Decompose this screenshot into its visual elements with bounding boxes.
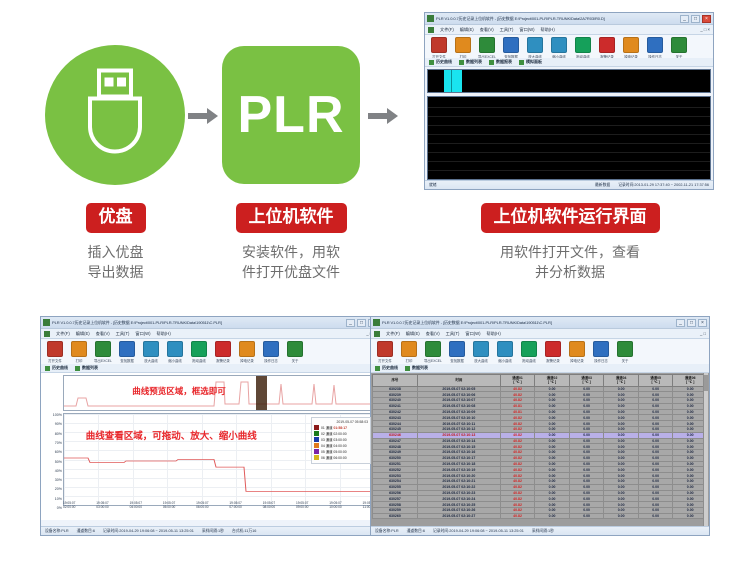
toolbar-label-10: 关于 xyxy=(614,358,636,363)
chart-area[interactable]: 历史曲线 数据列表 数据报表 模拟面板 xyxy=(425,58,713,180)
caption-desc-1: 插入优盘 导出数据 xyxy=(38,242,193,283)
status-bar: 就绪 最新数据 记录时间:2013-01-29 17:37:40 ~ 2002-… xyxy=(425,180,713,189)
caption-badge-3: 上位机软件运行界面 xyxy=(481,203,660,233)
annotation-preview: 曲线预览区域，框选即可 xyxy=(132,385,226,397)
curve-workspace[interactable]: 曲线预览区域，框选即可 100%90%80%70%60%50%40%30%20%… xyxy=(41,373,379,520)
status-channels: 通道数目:6 xyxy=(77,529,95,534)
legend-swatch xyxy=(314,431,319,436)
cell-timestamp: 2019-05-07 02:10:27 xyxy=(417,513,500,519)
toolbar-icon-5 xyxy=(497,341,513,357)
caption-step-3: 上位机软件运行界面 用软件打开文件，查看 并分析数据 xyxy=(420,203,720,282)
menu-tools[interactable]: 工具(T) xyxy=(500,27,514,33)
curve-main-pane[interactable]: 曲线查看区域，可拖动、放大、缩小曲线 2019-05-07 05:58:0301… xyxy=(63,413,375,506)
status-channels: 通道数目:6 xyxy=(407,529,425,534)
status-interval: 采样间隔:1秒 xyxy=(532,529,554,534)
toolbar-label-6: 拖动曲线 xyxy=(188,358,210,363)
toolbar-label-6: 拖动曲线 xyxy=(518,358,540,363)
toolbar-label-10: 关于 xyxy=(284,358,306,363)
x-tick-label: 19:05:07 08:00:00 xyxy=(263,501,275,509)
toolbar-button-7[interactable]: 报警记录 xyxy=(596,37,618,59)
toolbar-icon-4 xyxy=(473,341,489,357)
toolbar-button-3[interactable]: 查找数据 xyxy=(500,37,522,59)
tab-history-curve[interactable]: 历史曲线 xyxy=(45,365,68,371)
menu-view[interactable]: 查看(V) xyxy=(426,331,440,337)
selection-highlight[interactable] xyxy=(444,70,462,92)
app-icon xyxy=(427,15,434,22)
toolbar-button-6[interactable]: 拖动曲线 xyxy=(518,341,540,363)
y-tick-label: 30% xyxy=(55,478,62,482)
toolbar-icon-10 xyxy=(671,37,687,53)
caption-badge-2: 上位机软件 xyxy=(236,203,347,233)
mdi-controls[interactable]: _ □ xyxy=(700,331,706,336)
y-axis: 100%90%80%70%60%50%40%30%20%10%0% xyxy=(43,413,63,506)
y-tick-label: 100% xyxy=(53,413,62,417)
arrow-1-icon xyxy=(188,108,218,124)
menu-bar[interactable]: 文件(F) 编辑(E) 查看(V) 工具(T) 窗口(W) 帮助(H) _ □ … xyxy=(41,329,379,339)
document-icon xyxy=(374,331,380,337)
caption-desc-3: 用软件打开文件，查看 并分析数据 xyxy=(420,242,720,283)
x-tick-label: 19:05:07 10:00:00 xyxy=(329,501,341,509)
toolbar-icon-8 xyxy=(239,341,255,357)
toolbar-button-10[interactable]: 关于 xyxy=(284,341,306,363)
toolbar-button-7[interactable]: 报警记录 xyxy=(542,341,564,363)
status-record-time: 记录时间:2013-01-29 17:37:40 ~ 2002-11-21 17… xyxy=(618,183,709,188)
toolbar-icon-3 xyxy=(503,37,519,53)
status-interval: 采样间隔:1秒 xyxy=(202,529,224,534)
tab-data-list[interactable]: 数据列表 xyxy=(459,59,482,65)
toolbar-icon-1 xyxy=(455,37,471,53)
x-tick-label: 19:05:07 03:00:00 xyxy=(96,501,108,509)
y-tick-label: 40% xyxy=(55,469,62,473)
toolbar-button-8[interactable]: 掉电记录 xyxy=(566,341,588,363)
cell-channel-5: 0.00 xyxy=(638,513,673,519)
y-tick-label: 60% xyxy=(55,450,62,454)
window-controls[interactable]: _ □ × xyxy=(676,319,707,327)
chart-legend: 2019-05-07 05:58:0301 通道 01:58:1702 通道 0… xyxy=(311,417,371,464)
toolbar-icon-4 xyxy=(143,341,159,357)
toolbar-label-7: 报警记录 xyxy=(542,358,564,363)
tab-sim-panel[interactable]: 模拟面板 xyxy=(519,59,542,65)
tab-icon xyxy=(75,366,80,371)
cell-index: 630260 xyxy=(373,513,418,519)
toolbar-icon-7 xyxy=(545,341,561,357)
window-title: PLR V1.0.0.7历史记录上位机软件 - [历史数据 E:\Project… xyxy=(436,16,678,22)
y-tick-label: 50% xyxy=(55,460,62,464)
toolbar-label-3: 查找数据 xyxy=(116,358,138,363)
tab-data-list[interactable]: 数据列表 xyxy=(75,365,98,371)
status-record-time: 记录时间:2019-04-29 19:06:08 ~ 2019-05-11 13… xyxy=(103,529,194,534)
toolbar-icon-0 xyxy=(431,37,447,53)
tab-bar[interactable]: 历史曲线 数据列表 数据报表 模拟面板 xyxy=(425,58,713,67)
toolbar-button-9[interactable]: 操作日志 xyxy=(644,37,666,59)
data-table-area[interactable]: 序号时间通道01[ ℃ ]通道02[ ℃ ]通道03[ ℃ ]通道04[ ℃ ]… xyxy=(371,373,709,526)
toolbar-label-3: 查找数据 xyxy=(446,358,468,363)
caption-desc-2: 安装软件，用软 件打开优盘文件 xyxy=(200,242,382,283)
toolbar-button-8[interactable]: 掉电记录 xyxy=(236,341,258,363)
toolbar-button-1[interactable]: 打印 xyxy=(68,341,90,363)
maximize-button[interactable]: □ xyxy=(687,319,696,327)
column-header-6[interactable]: 通道05[ ℃ ] xyxy=(638,375,673,387)
menu-window[interactable]: 窗口(W) xyxy=(519,27,534,33)
toolbar-icon-1 xyxy=(71,341,87,357)
legend-row-0[interactable]: 01 通道 01:58:17 xyxy=(314,425,368,430)
tab-data-list[interactable]: 数据列表 xyxy=(405,365,428,371)
data-table[interactable]: 序号时间通道01[ ℃ ]通道02[ ℃ ]通道03[ ℃ ]通道04[ ℃ ]… xyxy=(372,374,708,519)
toolbar-button-0[interactable]: 打开文件 xyxy=(428,37,450,59)
y-tick-label: 10% xyxy=(55,497,62,501)
column-header-1[interactable]: 时间 xyxy=(417,375,500,387)
y-tick-label: 0% xyxy=(57,506,62,510)
x-tick-label: 19:05:07 02:00:00 xyxy=(63,501,75,509)
minimize-button[interactable]: _ xyxy=(680,15,689,23)
usb-drive-badge xyxy=(45,45,185,185)
x-axis: 19:05:07 02:00:0019:05:07 03:00:0019:05:… xyxy=(63,501,375,510)
preview-selection-band[interactable] xyxy=(256,376,267,410)
toolbar-label-8: 掉电记录 xyxy=(566,358,588,363)
usb-drive-icon xyxy=(78,67,152,164)
y-tick-label: 90% xyxy=(55,422,62,426)
legend-label: 04 通道 04:00:00 xyxy=(321,443,347,448)
tab-icon xyxy=(45,366,50,371)
toolbar-label-0: 打开文件 xyxy=(374,358,396,363)
toolbar[interactable]: 打开文件打印导出EXCEL查找数据放大曲线缩小曲线拖动曲线报警记录掉电记录操作日… xyxy=(41,339,379,365)
legend-label: 05 通道 05:00:00 xyxy=(321,449,347,454)
window-controls[interactable]: _ □ × xyxy=(680,15,711,23)
toolbar-icon-9 xyxy=(263,341,279,357)
toolbar-label-5: 缩小曲线 xyxy=(494,358,516,363)
toolbar-icon-10 xyxy=(287,341,303,357)
toolbar-icon-6 xyxy=(575,37,591,53)
legend-swatch xyxy=(314,437,319,442)
legend-row-5[interactable]: 06 通道 06:00:00 xyxy=(314,455,368,460)
toolbar-label-4: 放大曲线 xyxy=(470,358,492,363)
toolbar-icon-2 xyxy=(425,341,441,357)
legend-swatch xyxy=(314,449,319,454)
toolbar-icon-7 xyxy=(215,341,231,357)
close-button[interactable]: × xyxy=(698,319,707,327)
plr-logo-text: PLR xyxy=(238,89,345,141)
close-button[interactable]: × xyxy=(702,15,711,23)
menu-bar[interactable]: 文件(F) 编辑(E) 查看(V) 工具(T) 窗口(W) 帮助(H) _ □ … xyxy=(425,25,713,35)
toolbar-button-4[interactable]: 放大曲线 xyxy=(524,37,546,59)
menu-bar[interactable]: 文件(F) 编辑(E) 查看(V) 工具(T) 窗口(W) 帮助(H) _ □ xyxy=(371,329,709,339)
app-icon xyxy=(373,319,380,326)
toolbar-icon-6 xyxy=(521,341,537,357)
tab-history-curve[interactable]: 历史曲线 xyxy=(375,365,398,371)
toolbar-icon-9 xyxy=(593,341,609,357)
toolbar-button-3[interactable]: 查找数据 xyxy=(446,341,468,363)
column-header-0[interactable]: 序号 xyxy=(373,375,418,387)
toolbar-button-9[interactable]: 操作日志 xyxy=(260,341,282,363)
toolbar-icon-3 xyxy=(119,341,135,357)
toolbar-label-2: 导出EXCEL xyxy=(422,358,444,363)
toolbar-button-2[interactable]: 导出EXCEL xyxy=(422,341,444,363)
tab-icon xyxy=(375,366,380,371)
legend-swatch xyxy=(314,443,319,448)
toolbar-button-4[interactable]: 放大曲线 xyxy=(470,341,492,363)
window-history-curve[interactable]: PLR V1.0.0.7历史记录上位机软件 - [历史数据 E:\Project… xyxy=(40,316,380,536)
mdi-controls[interactable]: _ □ × xyxy=(700,27,710,32)
toolbar-icon-1 xyxy=(401,341,417,357)
column-header-3[interactable]: 通道02[ ℃ ] xyxy=(535,375,570,387)
menu-help[interactable]: 帮助(H) xyxy=(157,331,171,337)
window-data-list[interactable]: PLR V1.0.0.7历史记录上位机软件 - [历史数据 E:\Project… xyxy=(370,316,710,536)
menu-edit[interactable]: 编辑(E) xyxy=(76,331,90,337)
toolbar-button-6[interactable]: 拖动曲线 xyxy=(572,37,594,59)
toolbar-icon-3 xyxy=(449,341,465,357)
caption-badge-1: 优盘 xyxy=(86,203,146,233)
tab-icon xyxy=(459,60,464,65)
legend-swatch xyxy=(314,455,319,460)
toolbar-icon-8 xyxy=(623,37,639,53)
cell-channel-4: 0.00 xyxy=(604,513,639,519)
toolbar-button-5[interactable]: 缩小曲线 xyxy=(494,341,516,363)
tab-bar[interactable]: 历史曲线 数据列表 xyxy=(41,364,379,373)
cell-channel-3: 0.00 xyxy=(569,513,604,519)
column-header-2[interactable]: 通道01[ ℃ ] xyxy=(500,375,535,387)
toolbar-icon-0 xyxy=(377,341,393,357)
plr-logo: PLR xyxy=(222,46,360,184)
legend-label: 03 通道 03:00:00 xyxy=(321,437,347,442)
legend-label: 06 通道 06:00:00 xyxy=(321,455,347,460)
menu-edit[interactable]: 编辑(E) xyxy=(406,331,420,337)
preview-chart-panel[interactable] xyxy=(427,69,711,93)
toolbar-button-7[interactable]: 报警记录 xyxy=(212,341,234,363)
title-bar: PLR V1.0.0.7历史记录上位机软件 - [历史数据 E:\Project… xyxy=(371,317,709,329)
menu-edit[interactable]: 编辑(E) xyxy=(460,27,474,33)
minimize-button[interactable]: _ xyxy=(346,319,355,327)
legend-row-2[interactable]: 03 通道 03:00:00 xyxy=(314,437,368,442)
status-ready: 就绪 xyxy=(429,183,437,188)
maximize-button[interactable]: □ xyxy=(691,15,700,23)
toolbar-icon-2 xyxy=(95,341,111,357)
menu-view[interactable]: 查看(V) xyxy=(480,27,494,33)
page-root: PLR 优盘 插入优盘 导出数据 上位机软件 安装软件，用软 件打开优盘文件 上… xyxy=(0,0,750,567)
toolbar-label-7: 报警记录 xyxy=(212,358,234,363)
status-device: 设备名称:PLR xyxy=(45,529,69,534)
table-body[interactable]: 6302382019-05-07 02:10:0540.820.000.000.… xyxy=(373,386,708,519)
cell-channel-2: 0.00 xyxy=(535,513,570,519)
toolbar-button-3[interactable]: 查找数据 xyxy=(116,341,138,363)
x-tick-label: 19:05:07 07:00:00 xyxy=(229,501,241,509)
document-icon xyxy=(44,331,50,337)
status-bar: 设备名称:PLR 通道数目:6 记录时间:2019-04-29 19:06:08… xyxy=(41,526,379,535)
legend-label: 02 通道 02:00:00 xyxy=(321,431,347,436)
toolbar-label-9: 操作日志 xyxy=(260,358,282,363)
minimize-button[interactable]: _ xyxy=(676,319,685,327)
x-tick-label: 19:05:07 09:00:00 xyxy=(296,501,308,509)
status-latest: 最新数据 xyxy=(595,183,610,188)
toolbar-icon-6 xyxy=(191,341,207,357)
menu-help[interactable]: 帮助(H) xyxy=(487,331,501,337)
menu-tools[interactable]: 工具(T) xyxy=(446,331,460,337)
tab-history-curve[interactable]: 历史曲线 xyxy=(429,59,452,65)
window-title: PLR V1.0.0.7历史记录上位机软件 - [历史数据 E:\Project… xyxy=(382,320,674,326)
toolbar[interactable]: 打开文件打印导出EXCEL查找数据放大曲线缩小曲线拖动曲线报警记录掉电记录操作日… xyxy=(371,339,709,365)
maximize-button[interactable]: □ xyxy=(357,319,366,327)
column-header-4[interactable]: 通道03[ ℃ ] xyxy=(569,375,604,387)
y-tick-label: 80% xyxy=(55,432,62,436)
toolbar-icon-10 xyxy=(617,341,633,357)
menu-window[interactable]: 窗口(W) xyxy=(465,331,480,337)
legend-timestamp: 2019-05-07 05:58:03 xyxy=(314,420,368,424)
toolbar-button-10[interactable]: 关于 xyxy=(668,37,690,59)
toolbar-button-8[interactable]: 掉电记录 xyxy=(620,37,642,59)
toolbar-button-5[interactable]: 缩小曲线 xyxy=(548,37,570,59)
toolbar-button-2[interactable]: 导出EXCEL xyxy=(92,341,114,363)
document-icon xyxy=(428,27,434,33)
x-tick-label: 19:05:07 04:00:00 xyxy=(130,501,142,509)
toolbar-icon-5 xyxy=(167,341,183,357)
toolbar-label-9: 操作日志 xyxy=(590,358,612,363)
legend-label: 01 通道 01:58:17 xyxy=(321,425,347,430)
tab-icon xyxy=(429,60,434,65)
cell-channel-1: 40.82 xyxy=(500,513,535,519)
toolbar-button-10[interactable]: 关于 xyxy=(614,341,636,363)
app-icon xyxy=(43,319,50,326)
title-bar: PLR V1.0.0.7历史记录上位机软件 - [历史数据 E:\Project… xyxy=(425,13,713,25)
tab-data-report[interactable]: 数据报表 xyxy=(489,59,512,65)
table-scrollbar[interactable] xyxy=(703,373,708,526)
toolbar-label-1: 打印 xyxy=(398,358,420,363)
caption-step-2: 上位机软件 安装软件，用软 件打开优盘文件 xyxy=(200,203,382,282)
toolbar-label-2: 导出EXCEL xyxy=(92,358,114,363)
toolbar-button-1[interactable]: 打印 xyxy=(398,341,420,363)
caption-step-1: 优盘 插入优盘 导出数据 xyxy=(38,203,193,282)
y-tick-label: 20% xyxy=(55,487,62,491)
toolbar-button-1[interactable]: 打印 xyxy=(452,37,474,59)
tab-icon xyxy=(405,366,410,371)
menu-file[interactable]: 文件(F) xyxy=(440,27,454,33)
tab-bar[interactable]: 历史曲线 数据列表 xyxy=(371,364,709,373)
x-tick-label: 19:05:07 05:00:00 xyxy=(163,501,175,509)
column-header-5[interactable]: 通道04[ ℃ ] xyxy=(604,375,639,387)
window-software-running[interactable]: PLR V1.0.0.7历史记录上位机软件 - [历史数据 E:\Project… xyxy=(424,12,714,190)
legend-row-4[interactable]: 05 通道 05:00:00 xyxy=(314,449,368,454)
scrollbar-thumb[interactable] xyxy=(704,375,708,391)
menu-file[interactable]: 文件(F) xyxy=(386,331,400,337)
toolbar-icon-2 xyxy=(479,37,495,53)
toolbar-button-0[interactable]: 打开文件 xyxy=(44,341,66,363)
toolbar-icon-5 xyxy=(551,37,567,53)
legend-row-1[interactable]: 02 通道 02:00:00 xyxy=(314,431,368,436)
window-title: PLR V1.0.0.7历史记录上位机软件 - [历史数据 E:\Project… xyxy=(52,320,344,326)
tab-icon xyxy=(489,60,494,65)
toolbar-button-4[interactable]: 放大曲线 xyxy=(140,341,162,363)
toolbar-icon-7 xyxy=(599,37,615,53)
toolbar-icon-9 xyxy=(647,37,663,53)
toolbar-icon-0 xyxy=(47,341,63,357)
toolbar-label-5: 缩小曲线 xyxy=(164,358,186,363)
toolbar-label-8: 掉电记录 xyxy=(236,358,258,363)
toolbar-icon-8 xyxy=(569,341,585,357)
toolbar-label-0: 打开文件 xyxy=(44,358,66,363)
toolbar-button-0[interactable]: 打开文件 xyxy=(374,341,396,363)
tab-icon xyxy=(519,60,524,65)
menu-help[interactable]: 帮助(H) xyxy=(541,27,555,33)
toolbar-button-2[interactable]: 导出EXCEL xyxy=(476,37,498,59)
toolbar-button-5[interactable]: 缩小曲线 xyxy=(164,341,186,363)
toolbar-label-4: 放大曲线 xyxy=(140,358,162,363)
toolbar-button-9[interactable]: 操作日志 xyxy=(590,341,612,363)
title-bar: PLR V1.0.0.7历史记录上位机软件 - [历史数据 E:\Project… xyxy=(41,317,379,329)
status-record-time: 记录时间:2019-04-29 19:06:08 ~ 2019-05-11 13… xyxy=(433,529,524,534)
menu-window[interactable]: 窗口(W) xyxy=(135,331,150,337)
status-extra: 台式机:11万16 xyxy=(232,529,256,534)
status-device: 设备名称:PLR xyxy=(375,529,399,534)
toolbar-label-1: 打印 xyxy=(68,358,90,363)
x-tick-label: 19:05:07 06:00:00 xyxy=(196,501,208,509)
menu-tools[interactable]: 工具(T) xyxy=(116,331,130,337)
menu-view[interactable]: 查看(V) xyxy=(96,331,110,337)
status-bar: 设备名称:PLR 通道数目:6 记录时间:2019-04-29 19:06:08… xyxy=(371,526,709,535)
annotation-main: 曲线查看区域，可拖动、放大、缩小曲线 xyxy=(86,428,257,442)
legend-swatch xyxy=(314,425,319,430)
toolbar-icon-4 xyxy=(527,37,543,53)
toolbar-button-6[interactable]: 拖动曲线 xyxy=(188,341,210,363)
table-header: 序号时间通道01[ ℃ ]通道02[ ℃ ]通道03[ ℃ ]通道04[ ℃ ]… xyxy=(373,375,708,387)
menu-file[interactable]: 文件(F) xyxy=(56,331,70,337)
y-tick-label: 70% xyxy=(55,441,62,445)
arrow-2-icon xyxy=(368,108,398,124)
curve-preview-pane[interactable]: 曲线预览区域，框选即可 xyxy=(63,375,375,411)
legend-row-3[interactable]: 04 通道 04:00:00 xyxy=(314,443,368,448)
table-row[interactable]: 6302602019-05-07 02:10:2740.820.000.000.… xyxy=(373,513,708,519)
main-chart-panel[interactable] xyxy=(427,96,711,180)
